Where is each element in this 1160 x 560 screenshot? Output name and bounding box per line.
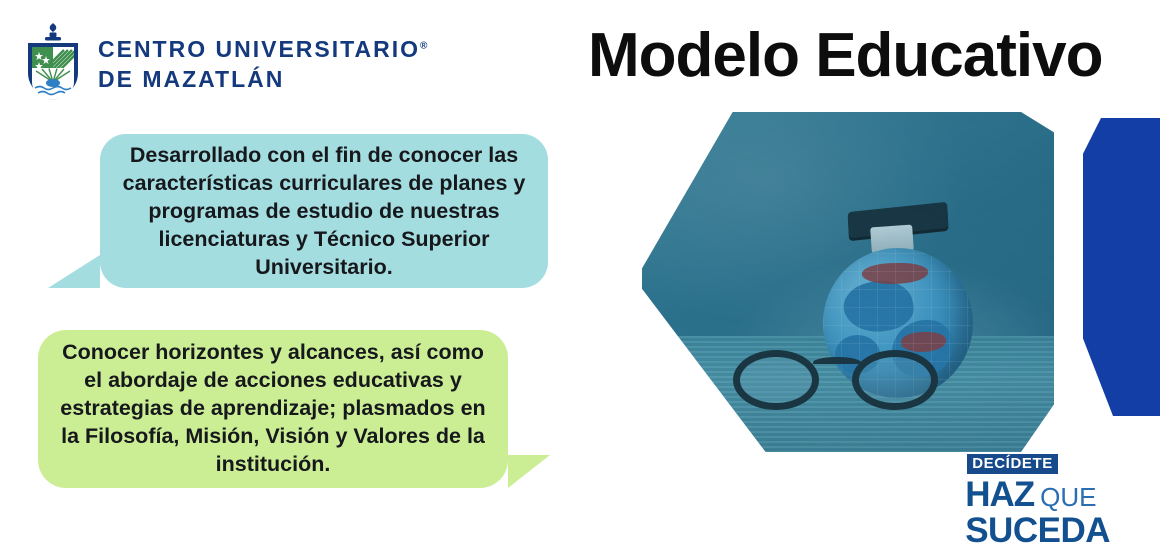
campaign-suceda-text: SUCEDA (965, 513, 1110, 548)
university-shield-torch-icon (22, 22, 84, 100)
speech-bubble-teal-text: Desarrollado con el fin de conocer las c… (122, 142, 526, 282)
speech-bubble-teal-tail (48, 255, 100, 288)
photo-color-overlay (642, 112, 1054, 452)
speech-bubble-green-text: Conocer horizontes y alcances, así como … (54, 339, 492, 479)
registered-mark-icon: ® (420, 40, 427, 51)
slide-canvas: CENTRO UNIVERSITARIO® DE MAZATLÁN Modelo… (0, 0, 1160, 560)
brand-line-1-text: CENTRO UNIVERSITARIO (98, 36, 420, 62)
brand-line-2: DE MAZATLÁN (98, 68, 427, 91)
speech-bubble-green-tail (508, 455, 550, 488)
campaign-decidete-row: DECÍDETE (965, 454, 1110, 474)
hexagon-accent-shape (1083, 118, 1160, 416)
campaign-decidete-badge: DECÍDETE (967, 454, 1058, 474)
campaign-haz-que-row: HAZ QUE (965, 477, 1110, 512)
brand-wordmark: CENTRO UNIVERSITARIO® DE MAZATLÁN (98, 32, 427, 91)
campaign-haz-text: HAZ (965, 477, 1034, 512)
brand-lockup: CENTRO UNIVERSITARIO® DE MAZATLÁN (22, 22, 427, 100)
hero-photo (642, 112, 1054, 452)
speech-bubble-teal: Desarrollado con el fin de conocer las c… (100, 134, 548, 288)
campaign-logo: DECÍDETE HAZ QUE SUCEDA (965, 454, 1110, 548)
page-title: Modelo Educativo (588, 20, 1102, 91)
brand-line-1: CENTRO UNIVERSITARIO® (98, 38, 427, 61)
campaign-que-text: QUE (1040, 484, 1096, 510)
speech-bubble-green: Conocer horizontes y alcances, así como … (38, 330, 508, 488)
